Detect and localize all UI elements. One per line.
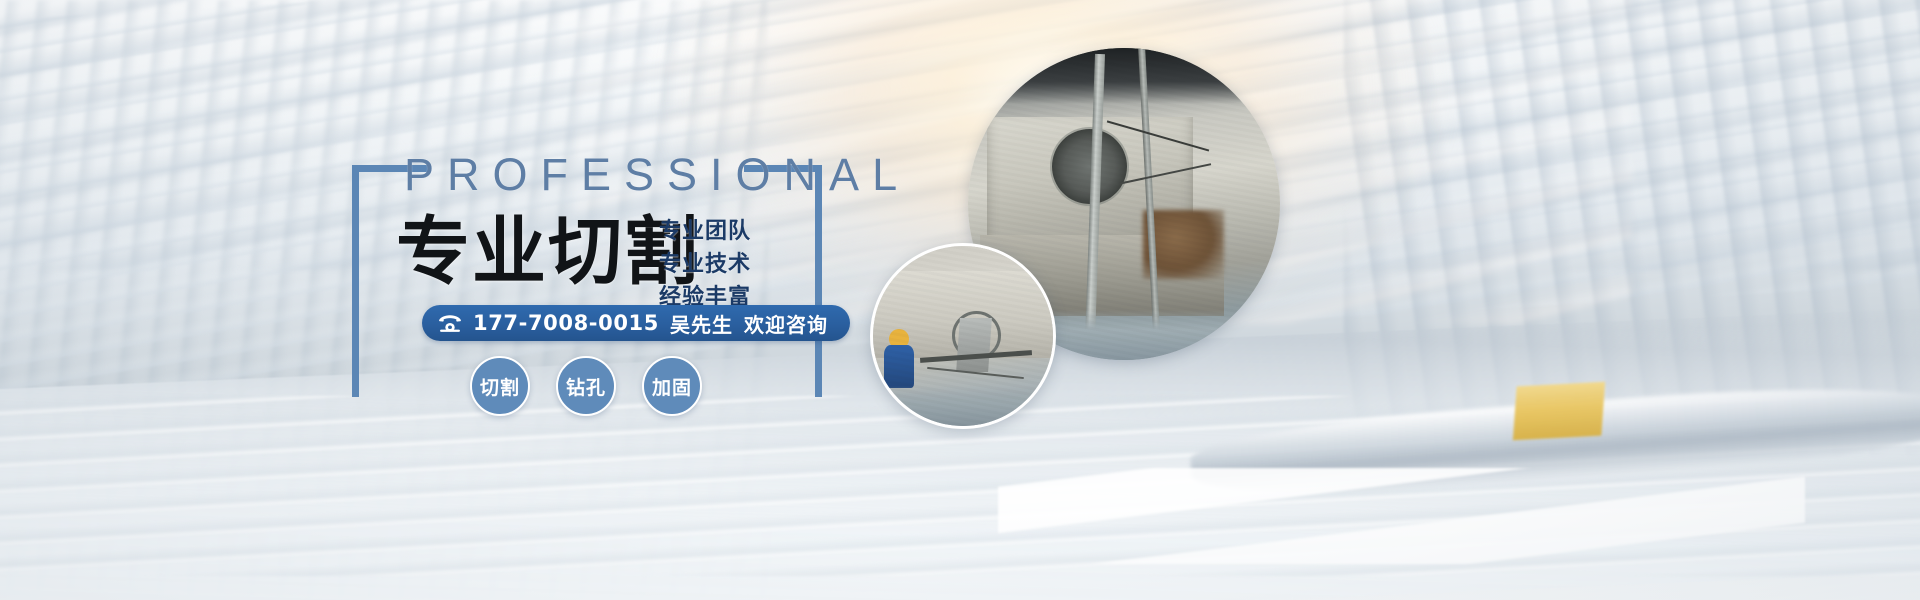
service-pill-group: 切割 钻孔 加固: [470, 356, 702, 416]
phone-number: 177-7008-0015: [473, 311, 659, 335]
banner-content: PROFESSIONAL 专业切割 专业团队 专业技术 经验丰富 177-700…: [0, 0, 1920, 600]
telephone-icon: [438, 314, 462, 333]
page-title: 专业切割: [396, 215, 700, 290]
service-pill-drilling[interactable]: 钻孔: [556, 356, 616, 416]
feature-item-2: 专业技术: [659, 251, 751, 279]
contact-name: 吴先生: [670, 309, 733, 338]
eyebrow-text: PROFESSIONAL: [404, 152, 910, 197]
promo-banner: PROFESSIONAL 专业切割 专业团队 专业技术 经验丰富 177-700…: [0, 0, 1920, 600]
feature-item-1: 专业团队: [659, 218, 751, 246]
photo-grain-overlay: [873, 246, 1053, 426]
contact-cta-text: 欢迎咨询: [744, 309, 828, 338]
service-pill-cutting[interactable]: 切割: [470, 356, 530, 416]
wall-saw-worker-photo: [870, 243, 1056, 429]
contact-phone-bar[interactable]: 177-7008-0015 吴先生 欢迎咨询: [422, 305, 850, 341]
service-pill-reinforcement[interactable]: 加固: [642, 356, 702, 416]
feature-list: 专业团队 专业技术 经验丰富: [659, 218, 751, 312]
frame-left-bar: [352, 165, 359, 397]
